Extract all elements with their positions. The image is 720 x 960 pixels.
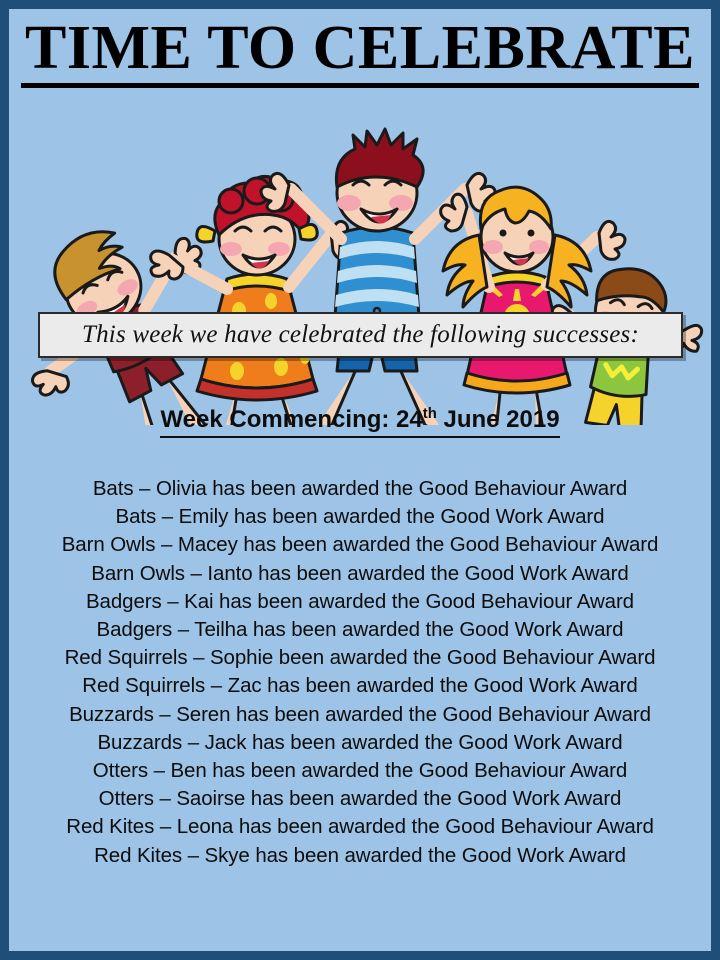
week-commencing-line: Week Commencing: 24th June 2019	[9, 405, 711, 438]
award-line: Red Squirrels – Sophie been awarded the …	[9, 644, 711, 672]
subtitle-banner: This week we have celebrated the followi…	[38, 312, 683, 358]
award-line: Badgers – Kai has been awarded the Good …	[9, 588, 711, 616]
award-line: Buzzards – Seren has been awarded the Go…	[9, 701, 711, 729]
week-month-year: June 2019	[443, 406, 559, 433]
award-line: Buzzards – Jack has been awarded the Goo…	[9, 729, 711, 757]
award-line: Otters – Saoirse has been awarded the Go…	[9, 785, 711, 813]
award-line: Bats – Olivia has been awarded the Good …	[9, 475, 711, 503]
award-line: Red Kites – Leona has been awarded the G…	[9, 813, 711, 841]
celebration-poster: TIME TO CELEBRATE	[0, 0, 720, 960]
week-day-suffix: th	[423, 406, 437, 422]
subtitle-text: This week we have celebrated the followi…	[82, 321, 639, 349]
award-line: Red Squirrels – Zac has been awarded the…	[9, 672, 711, 700]
award-line: Barn Owls – Macey has been awarded the G…	[9, 531, 711, 559]
award-list: Bats – Olivia has been awarded the Good …	[9, 475, 711, 870]
award-line: Otters – Ben has been awarded the Good B…	[9, 757, 711, 785]
award-line: Barn Owls – Ianto has been awarded the G…	[9, 560, 711, 588]
jumping-children-illustration	[9, 105, 711, 425]
award-line: Badgers – Teilha has been awarded the Go…	[9, 616, 711, 644]
title-block: TIME TO CELEBRATE	[9, 15, 711, 88]
week-commencing-label: Week Commencing:	[160, 406, 389, 433]
award-line: Bats – Emily has been awarded the Good W…	[9, 503, 711, 531]
week-commencing-text: Week Commencing: 24th June 2019	[160, 405, 559, 438]
week-day: 24	[396, 406, 423, 433]
page-title: TIME TO CELEBRATE	[21, 15, 699, 88]
award-line: Red Kites – Skye has been awarded the Go…	[9, 842, 711, 870]
